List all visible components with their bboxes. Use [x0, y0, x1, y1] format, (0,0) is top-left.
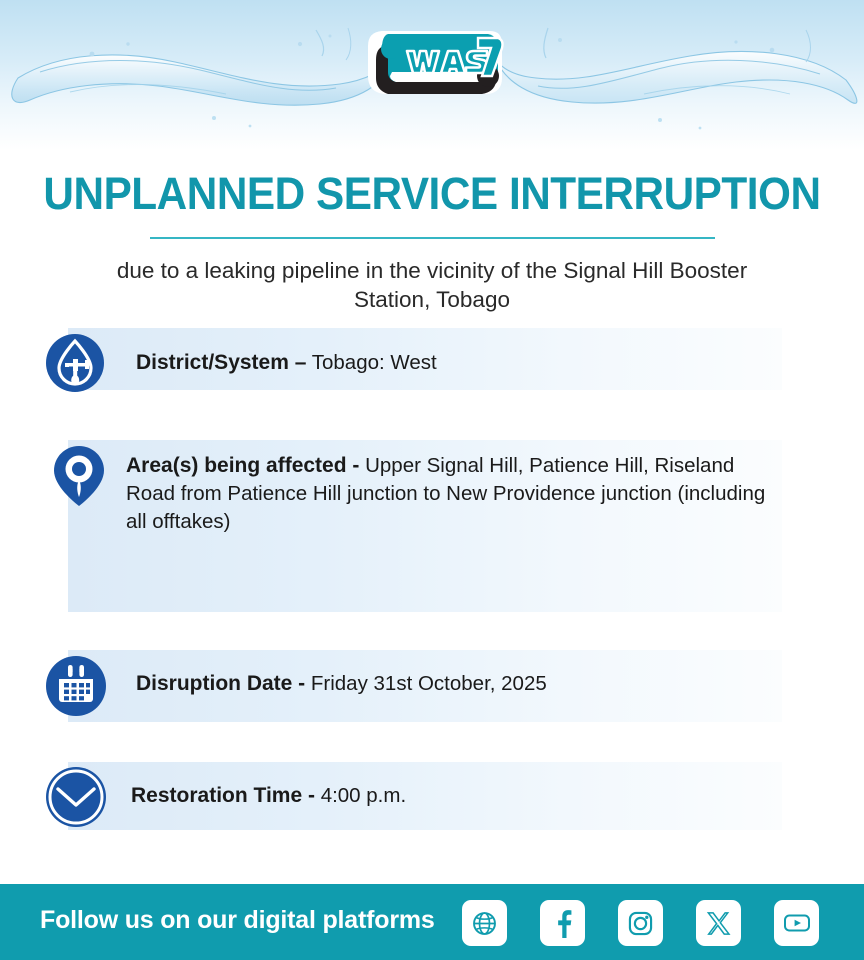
page-subtitle: due to a leaking pipeline in the vicinit… — [82, 256, 782, 314]
area-row-text: Area(s) being affected - Upper Signal Hi… — [126, 452, 771, 536]
map-pin-icon — [47, 444, 111, 508]
district-value: Tobago: West — [312, 351, 437, 374]
facebook-f-icon — [549, 909, 576, 938]
clock-icon — [45, 766, 107, 828]
instagram-camera-icon — [627, 910, 654, 937]
time-value: 4:00 p.m. — [321, 784, 406, 807]
x-logo-icon — [705, 910, 732, 937]
social-links — [462, 899, 832, 947]
instagram-icon[interactable] — [618, 900, 663, 946]
title-divider — [150, 237, 715, 239]
website-icon[interactable] — [462, 900, 507, 946]
district-label: District/System – — [136, 351, 306, 374]
area-label: Area(s) being affected - — [126, 454, 359, 477]
x-twitter-icon[interactable] — [696, 900, 741, 946]
globe-icon — [471, 910, 498, 937]
youtube-play-icon — [783, 912, 811, 934]
wasa-logo — [362, 26, 510, 102]
youtube-icon[interactable] — [774, 900, 819, 946]
water-tap-icon — [45, 333, 105, 393]
calendar-icon — [45, 655, 107, 717]
date-label: Disruption Date - — [136, 672, 305, 695]
time-row-text: Restoration Time - 4:00 p.m. — [131, 782, 751, 810]
service-interruption-notice: UNPLANNED SERVICE INTERRUPTION due to a … — [0, 0, 864, 960]
time-label: Restoration Time - — [131, 784, 315, 807]
date-value: Friday 31st October, 2025 — [311, 672, 547, 695]
date-row-text: Disruption Date - Friday 31st October, 2… — [136, 670, 756, 698]
header-banner — [0, 0, 864, 150]
footer-follow-text: Follow us on our digital platforms — [40, 906, 435, 935]
district-row-text: District/System – Tobago: West — [136, 349, 756, 377]
page-title: UNPLANNED SERVICE INTERRUPTION — [26, 168, 838, 220]
facebook-icon[interactable] — [540, 900, 585, 946]
